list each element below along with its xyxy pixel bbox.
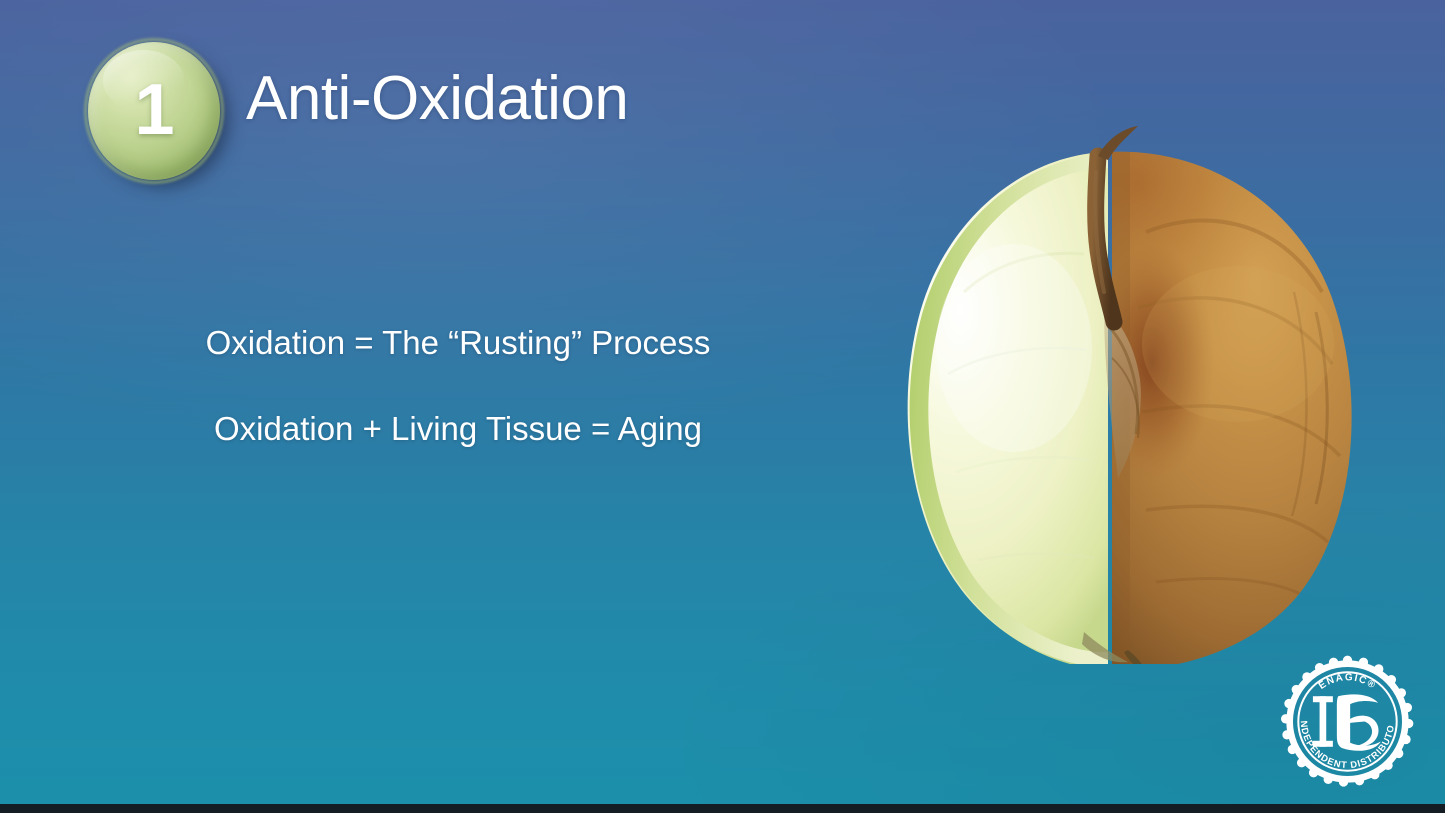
bottom-dark-bar (0, 804, 1445, 813)
apple-illustration (846, 112, 1412, 664)
step-number-badge: 1 (86, 40, 228, 186)
badge-number-label: 1 (134, 74, 173, 146)
enagic-logo: ENAGIC® INDEPENDENT DISTRIBUTOR (1281, 655, 1414, 788)
body-text-block: Oxidation = The “Rusting” Process Oxidat… (108, 326, 808, 445)
enagic-seal-icon: ENAGIC® INDEPENDENT DISTRIBUTOR (1281, 655, 1414, 788)
badge-circle: 1 (88, 42, 220, 180)
slide-canvas: 1 Anti-Oxidation Oxidation = The “Rustin… (0, 0, 1445, 813)
slide-title: Anti-Oxidation (246, 66, 628, 133)
body-line-1: Oxidation = The “Rusting” Process (108, 326, 808, 359)
body-line-2: Oxidation + Living Tissue = Aging (108, 412, 808, 445)
apple-image (846, 112, 1412, 664)
